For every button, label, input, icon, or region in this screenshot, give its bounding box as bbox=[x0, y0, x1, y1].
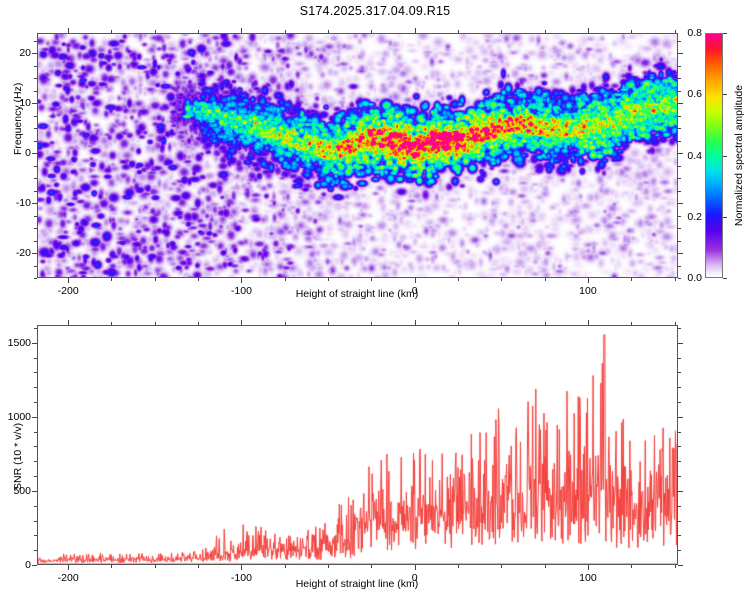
spectrogram-xtick-label: 100 bbox=[579, 285, 597, 297]
axis-tick bbox=[588, 320, 589, 325]
axis-tick bbox=[34, 128, 37, 129]
axis-tick bbox=[34, 535, 37, 536]
axis-tick bbox=[371, 30, 372, 33]
snr-ytick-label: 0 bbox=[1, 559, 31, 571]
snr-canvas-clip bbox=[38, 326, 677, 564]
colorbar-tick-label: 0.8 bbox=[676, 27, 702, 39]
snr-xtick-label: 100 bbox=[579, 572, 597, 584]
axis-tick bbox=[415, 320, 416, 325]
axis-tick bbox=[34, 387, 37, 388]
axis-tick bbox=[678, 178, 681, 179]
axis-tick bbox=[631, 278, 632, 281]
axis-tick bbox=[678, 191, 681, 192]
axis-tick bbox=[678, 565, 683, 566]
axis-tick bbox=[34, 216, 37, 217]
axis-tick bbox=[34, 278, 37, 279]
axis-tick bbox=[678, 343, 683, 344]
axis-tick bbox=[32, 343, 37, 344]
axis-tick bbox=[111, 322, 112, 325]
axis-tick bbox=[371, 278, 372, 281]
snr-xtick-label: -100 bbox=[231, 572, 252, 584]
axis-tick bbox=[241, 278, 242, 283]
axis-tick bbox=[678, 241, 681, 242]
snr-xtick-label: -200 bbox=[58, 572, 79, 584]
axis-tick bbox=[545, 278, 546, 281]
axis-tick bbox=[678, 432, 681, 433]
axis-tick bbox=[34, 550, 37, 551]
axis-tick bbox=[34, 521, 37, 522]
axis-tick bbox=[678, 491, 683, 492]
axis-tick bbox=[501, 278, 502, 281]
axis-tick bbox=[545, 565, 546, 568]
spectrogram-image bbox=[38, 34, 677, 277]
spectrogram-x-axis-label: Height of straight line (km) bbox=[296, 288, 419, 300]
axis-tick bbox=[155, 322, 156, 325]
axis-tick bbox=[34, 372, 37, 373]
axis-tick bbox=[198, 278, 199, 281]
axis-tick bbox=[678, 535, 681, 536]
colorbar-gradient bbox=[705, 33, 723, 278]
colorbar-tick bbox=[723, 33, 727, 34]
axis-tick bbox=[678, 41, 681, 42]
axis-tick bbox=[34, 141, 37, 142]
axis-tick bbox=[328, 565, 329, 568]
axis-tick bbox=[588, 28, 589, 33]
colorbar-tick-label: 0.4 bbox=[676, 150, 702, 162]
axis-tick bbox=[198, 322, 199, 325]
axis-tick bbox=[155, 30, 156, 33]
axis-tick bbox=[111, 278, 112, 281]
snr-plot-area bbox=[37, 325, 678, 565]
axis-tick bbox=[155, 278, 156, 281]
axis-tick bbox=[34, 41, 37, 42]
axis-tick bbox=[34, 328, 37, 329]
axis-tick bbox=[678, 476, 681, 477]
axis-tick bbox=[32, 203, 37, 204]
snr-x-axis-label: Height of straight line (km) bbox=[296, 578, 419, 590]
spectrogram-plot-area bbox=[37, 33, 678, 278]
axis-tick bbox=[678, 116, 681, 117]
spectrogram-ytick-label: 20 bbox=[1, 47, 31, 59]
axis-tick bbox=[68, 565, 69, 570]
snr-y-axis-label: SNR (10 * v/v) bbox=[12, 423, 24, 490]
axis-tick bbox=[111, 565, 112, 568]
axis-tick bbox=[34, 266, 37, 267]
axis-tick bbox=[34, 191, 37, 192]
axis-tick bbox=[32, 103, 37, 104]
colorbar-tick-label: 0.2 bbox=[676, 211, 702, 223]
axis-tick bbox=[328, 322, 329, 325]
axis-tick bbox=[34, 446, 37, 447]
axis-tick bbox=[678, 358, 681, 359]
snr-ytick-label: 1500 bbox=[1, 337, 31, 349]
axis-tick bbox=[34, 178, 37, 179]
axis-tick bbox=[678, 402, 681, 403]
axis-tick bbox=[631, 30, 632, 33]
axis-tick bbox=[631, 565, 632, 568]
axis-tick bbox=[34, 506, 37, 507]
axis-tick bbox=[631, 322, 632, 325]
axis-tick bbox=[545, 30, 546, 33]
axis-tick bbox=[34, 166, 37, 167]
snr-trace bbox=[38, 326, 677, 564]
axis-tick bbox=[678, 78, 681, 79]
axis-tick bbox=[501, 322, 502, 325]
colorbar-tick bbox=[723, 217, 727, 218]
axis-tick bbox=[34, 461, 37, 462]
axis-tick bbox=[458, 565, 459, 568]
axis-tick bbox=[241, 320, 242, 325]
axis-tick bbox=[371, 322, 372, 325]
axis-tick bbox=[678, 550, 681, 551]
axis-tick bbox=[328, 30, 329, 33]
axis-tick bbox=[34, 116, 37, 117]
colorbar-title: Normalized spectral amplitude bbox=[733, 33, 745, 278]
axis-tick bbox=[32, 53, 37, 54]
axis-tick bbox=[285, 30, 286, 33]
axis-tick bbox=[155, 565, 156, 568]
page-title: S174.2025.317.04.09.R15 bbox=[0, 4, 750, 18]
axis-tick bbox=[678, 253, 683, 254]
axis-tick bbox=[678, 446, 681, 447]
axis-tick bbox=[458, 278, 459, 281]
axis-tick bbox=[678, 203, 683, 204]
spectrogram-ytick-label: -20 bbox=[1, 247, 31, 259]
colorbar-tick bbox=[723, 156, 727, 157]
colorbar-tick-label: 0.6 bbox=[676, 88, 702, 100]
axis-tick bbox=[588, 565, 589, 570]
axis-tick bbox=[68, 278, 69, 283]
spectrogram-y-axis-label: Frequency (Hz) bbox=[12, 83, 24, 155]
axis-tick bbox=[241, 565, 242, 570]
axis-tick bbox=[678, 372, 681, 373]
colorbar-tick bbox=[723, 94, 727, 95]
axis-tick bbox=[415, 28, 416, 33]
axis-tick bbox=[32, 153, 37, 154]
axis-tick bbox=[285, 278, 286, 281]
axis-tick bbox=[678, 66, 681, 67]
axis-tick bbox=[678, 128, 681, 129]
axis-tick bbox=[415, 565, 416, 570]
axis-tick bbox=[198, 30, 199, 33]
axis-tick bbox=[415, 278, 416, 283]
axis-tick bbox=[678, 506, 681, 507]
axis-tick bbox=[678, 266, 681, 267]
axis-tick bbox=[371, 565, 372, 568]
axis-tick bbox=[34, 78, 37, 79]
colorbar-tick bbox=[723, 278, 727, 279]
axis-tick bbox=[675, 322, 676, 325]
axis-tick bbox=[328, 278, 329, 281]
spectrogram-ytick-label: -10 bbox=[1, 197, 31, 209]
axis-tick bbox=[678, 166, 681, 167]
axis-tick bbox=[678, 387, 681, 388]
axis-tick bbox=[501, 565, 502, 568]
axis-tick bbox=[34, 358, 37, 359]
axis-tick bbox=[588, 278, 589, 283]
axis-tick bbox=[678, 328, 681, 329]
axis-tick bbox=[32, 491, 37, 492]
axis-tick bbox=[458, 322, 459, 325]
axis-tick bbox=[285, 565, 286, 568]
spectrogram-xtick-label: -100 bbox=[231, 285, 252, 297]
axis-tick bbox=[678, 521, 681, 522]
colorbar-tick-label: 0.0 bbox=[676, 272, 702, 284]
axis-tick bbox=[68, 28, 69, 33]
axis-tick bbox=[34, 432, 37, 433]
axis-tick bbox=[111, 30, 112, 33]
axis-tick bbox=[678, 141, 681, 142]
axis-tick bbox=[678, 228, 681, 229]
axis-tick bbox=[678, 461, 681, 462]
axis-tick bbox=[34, 91, 37, 92]
axis-tick bbox=[32, 417, 37, 418]
axis-tick bbox=[678, 417, 683, 418]
axis-tick bbox=[241, 28, 242, 33]
figure-root: S174.2025.317.04.09.R15 -200-1000100-20-… bbox=[0, 0, 750, 600]
axis-tick bbox=[34, 402, 37, 403]
axis-tick bbox=[285, 322, 286, 325]
axis-tick bbox=[198, 565, 199, 568]
axis-tick bbox=[458, 30, 459, 33]
axis-tick bbox=[34, 66, 37, 67]
axis-tick bbox=[34, 476, 37, 477]
spectrogram-canvas-clip bbox=[38, 34, 677, 277]
axis-tick bbox=[678, 103, 683, 104]
axis-tick bbox=[501, 30, 502, 33]
axis-tick bbox=[675, 565, 676, 568]
axis-tick bbox=[678, 53, 683, 54]
axis-tick bbox=[545, 322, 546, 325]
axis-tick bbox=[32, 565, 37, 566]
axis-tick bbox=[32, 253, 37, 254]
axis-tick bbox=[34, 228, 37, 229]
spectrogram-xtick-label: -200 bbox=[58, 285, 79, 297]
axis-tick bbox=[68, 320, 69, 325]
snr-ytick-label: 1000 bbox=[1, 411, 31, 423]
colorbar bbox=[705, 33, 723, 278]
axis-tick bbox=[34, 241, 37, 242]
